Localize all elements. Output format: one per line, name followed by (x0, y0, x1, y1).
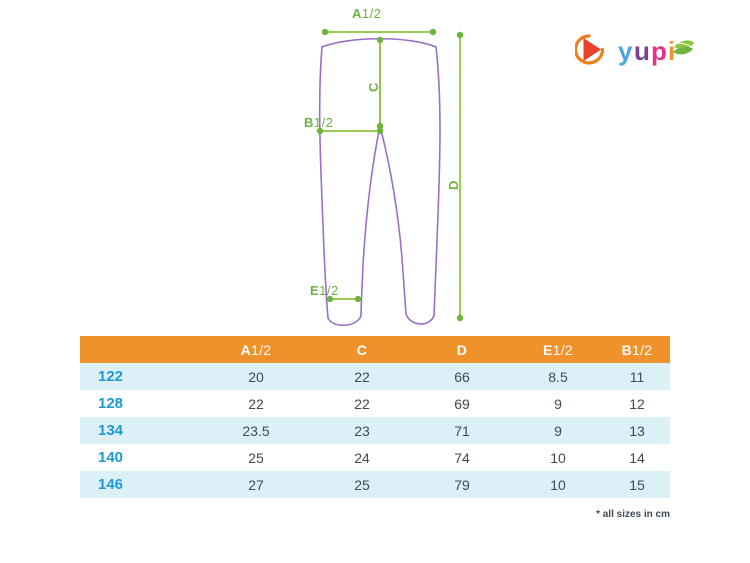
footnote-units: * all sizes in cm (80, 509, 670, 520)
cell-c: 24 (312, 444, 412, 471)
cell-d: 71 (412, 417, 512, 444)
cell-b: 15 (604, 471, 670, 498)
column-header-a: A1/2 (200, 336, 312, 363)
cell-a: 20 (200, 363, 312, 390)
label-b-half: B1/2 (304, 115, 333, 130)
measurement-diagram: A1/2 C D B1/2 E1/2 (270, 0, 520, 335)
svg-text:u: u (634, 36, 650, 66)
cell-e: 9 (512, 390, 604, 417)
cell-b: 14 (604, 444, 670, 471)
cell-c: 22 (312, 390, 412, 417)
cell-c: 25 (312, 471, 412, 498)
cell-d: 66 (412, 363, 512, 390)
logo-wordmark: y u p i (618, 36, 675, 66)
label-c: C (366, 82, 381, 92)
cell-e: 8.5 (512, 363, 604, 390)
cell-c: 23 (312, 417, 412, 444)
column-header-e: E1/2 (512, 336, 604, 363)
table-row: 134 23.5 23 71 9 13 (80, 417, 670, 444)
cell-b: 11 (604, 363, 670, 390)
table-row: 146 27 25 79 10 15 (80, 471, 670, 498)
column-header-b: B1/2 (604, 336, 670, 363)
measurement-lines (317, 29, 463, 321)
cell-c: 22 (312, 363, 412, 390)
column-header-c: C (312, 336, 412, 363)
cell-e: 10 (512, 444, 604, 471)
cell-b: 13 (604, 417, 670, 444)
table-row: 140 25 24 74 10 14 (80, 444, 670, 471)
label-a-half: A1/2 (352, 6, 381, 21)
cell-d: 74 (412, 444, 512, 471)
cell-d: 79 (412, 471, 512, 498)
cell-a: 25 (200, 444, 312, 471)
cell-size: 122 (80, 363, 200, 390)
svg-text:y: y (618, 36, 633, 66)
table-row: 128 22 22 69 9 12 (80, 390, 670, 417)
cell-size: 128 (80, 390, 200, 417)
cell-size: 134 (80, 417, 200, 444)
cell-a: 22 (200, 390, 312, 417)
cell-a: 23.5 (200, 417, 312, 444)
logo-leaf-icon (672, 40, 694, 54)
table-row: 122 20 22 66 8.5 11 (80, 363, 670, 390)
cell-size: 140 (80, 444, 200, 471)
cell-b: 12 (604, 390, 670, 417)
column-header-d: D (412, 336, 512, 363)
cell-a: 27 (200, 471, 312, 498)
column-header-size (80, 336, 200, 363)
label-e-half: E1/2 (310, 283, 339, 298)
cell-e: 10 (512, 471, 604, 498)
size-chart-table: A1/2 C D E1/2 B1/2 122 20 22 66 8.5 11 (80, 336, 670, 498)
cell-size: 146 (80, 471, 200, 498)
brand-logo: y u p i (575, 30, 695, 72)
cell-e: 9 (512, 417, 604, 444)
svg-text:p: p (651, 36, 667, 66)
logo-arrow-mark (576, 36, 603, 63)
table-header-row: A1/2 C D E1/2 B1/2 (80, 336, 670, 363)
cell-d: 69 (412, 390, 512, 417)
label-d: D (446, 180, 461, 190)
